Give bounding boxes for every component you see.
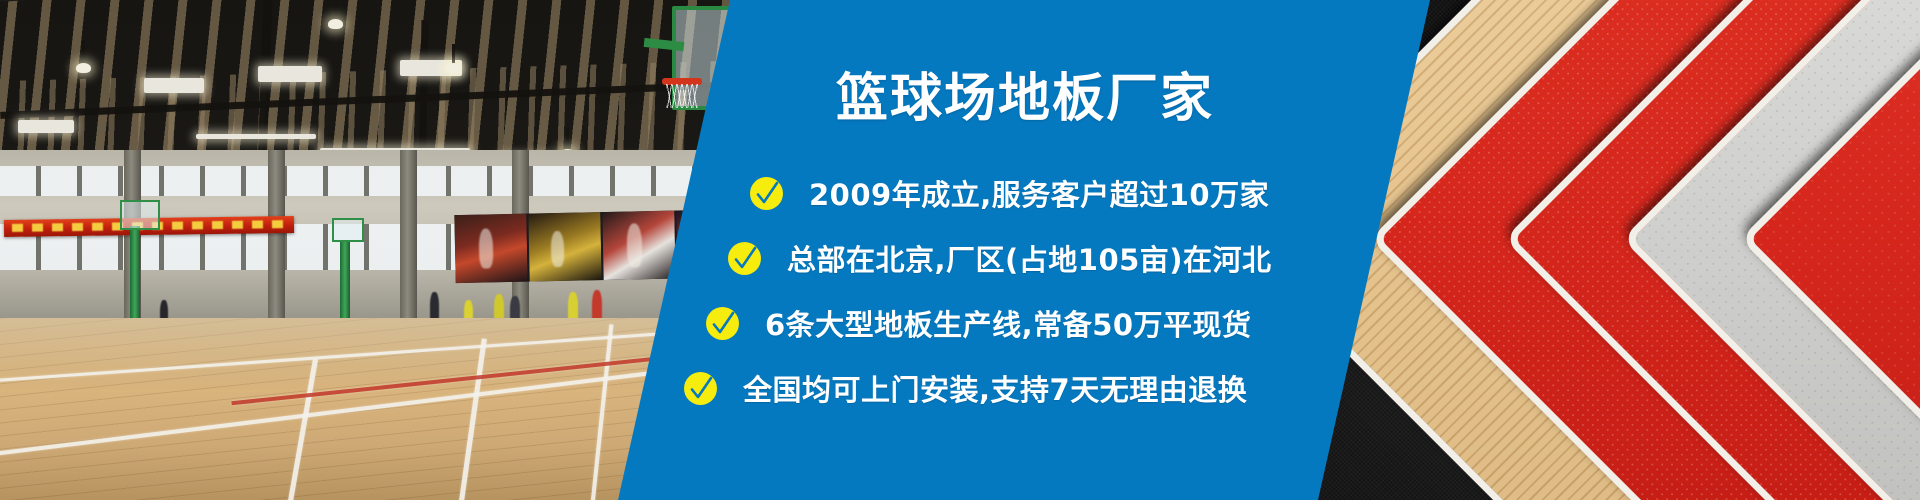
check-circle-icon <box>750 177 783 210</box>
list-item-label: 2009年成立,服务客户超过10万家 <box>809 172 1269 214</box>
banner-content: 篮球场地板厂家 2009年成立,服务客户超过10万家 总部在北京,厂区(占地10… <box>0 0 1920 500</box>
list-item-label: 总部在北京,厂区(占地105亩)在河北 <box>787 237 1272 279</box>
list-item-label: 6条大型地板生产线,常备50万平现货 <box>765 302 1252 344</box>
promo-banner: 篮球场地板厂家 2009年成立,服务客户超过10万家 总部在北京,厂区(占地10… <box>0 0 1920 500</box>
check-circle-icon <box>728 242 761 275</box>
check-circle-icon <box>684 372 717 405</box>
list-item: 总部在北京,厂区(占地105亩)在河北 <box>728 237 1272 279</box>
list-item: 6条大型地板生产线,常备50万平现货 <box>706 302 1252 344</box>
check-circle-icon <box>706 307 739 340</box>
list-item: 全国均可上门安装,支持7天无理由退换 <box>684 367 1247 409</box>
list-item-label: 全国均可上门安装,支持7天无理由退换 <box>743 367 1247 409</box>
page-title: 篮球场地板厂家 <box>836 68 1214 130</box>
list-item: 2009年成立,服务客户超过10万家 <box>750 172 1269 214</box>
